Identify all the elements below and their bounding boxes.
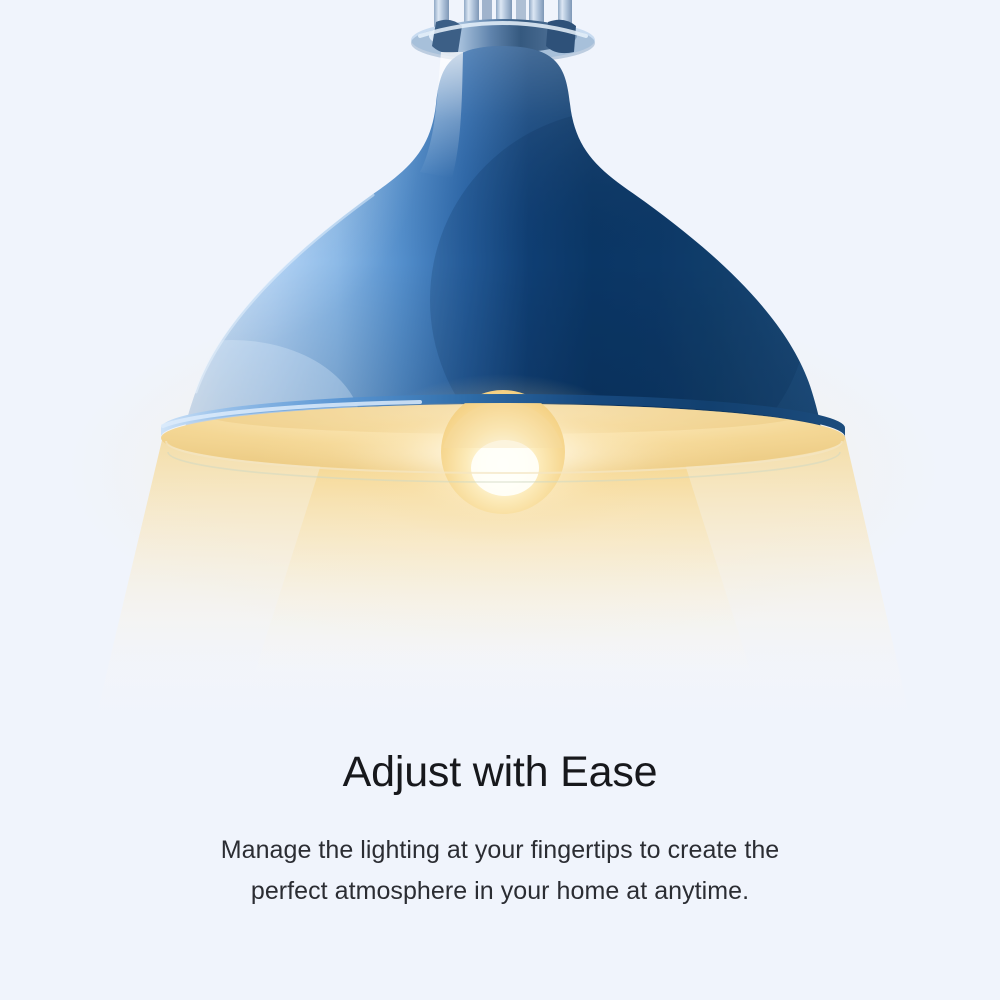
page-title: Adjust with Ease bbox=[0, 748, 1000, 796]
subtitle-line: perfect atmosphere in your home at anyti… bbox=[0, 871, 1000, 912]
collar-lug-left bbox=[432, 20, 462, 53]
bulb-filament-core bbox=[471, 440, 539, 496]
banner-root: Adjust with Ease Manage the lighting at … bbox=[0, 0, 1000, 1000]
page-subtitle: Manage the lighting at your fingertips t… bbox=[0, 796, 1000, 911]
subtitle-line: Manage the lighting at your fingertips t… bbox=[0, 830, 1000, 871]
caption-block: Adjust with Ease Manage the lighting at … bbox=[0, 748, 1000, 911]
collar-lug-right bbox=[546, 20, 576, 53]
